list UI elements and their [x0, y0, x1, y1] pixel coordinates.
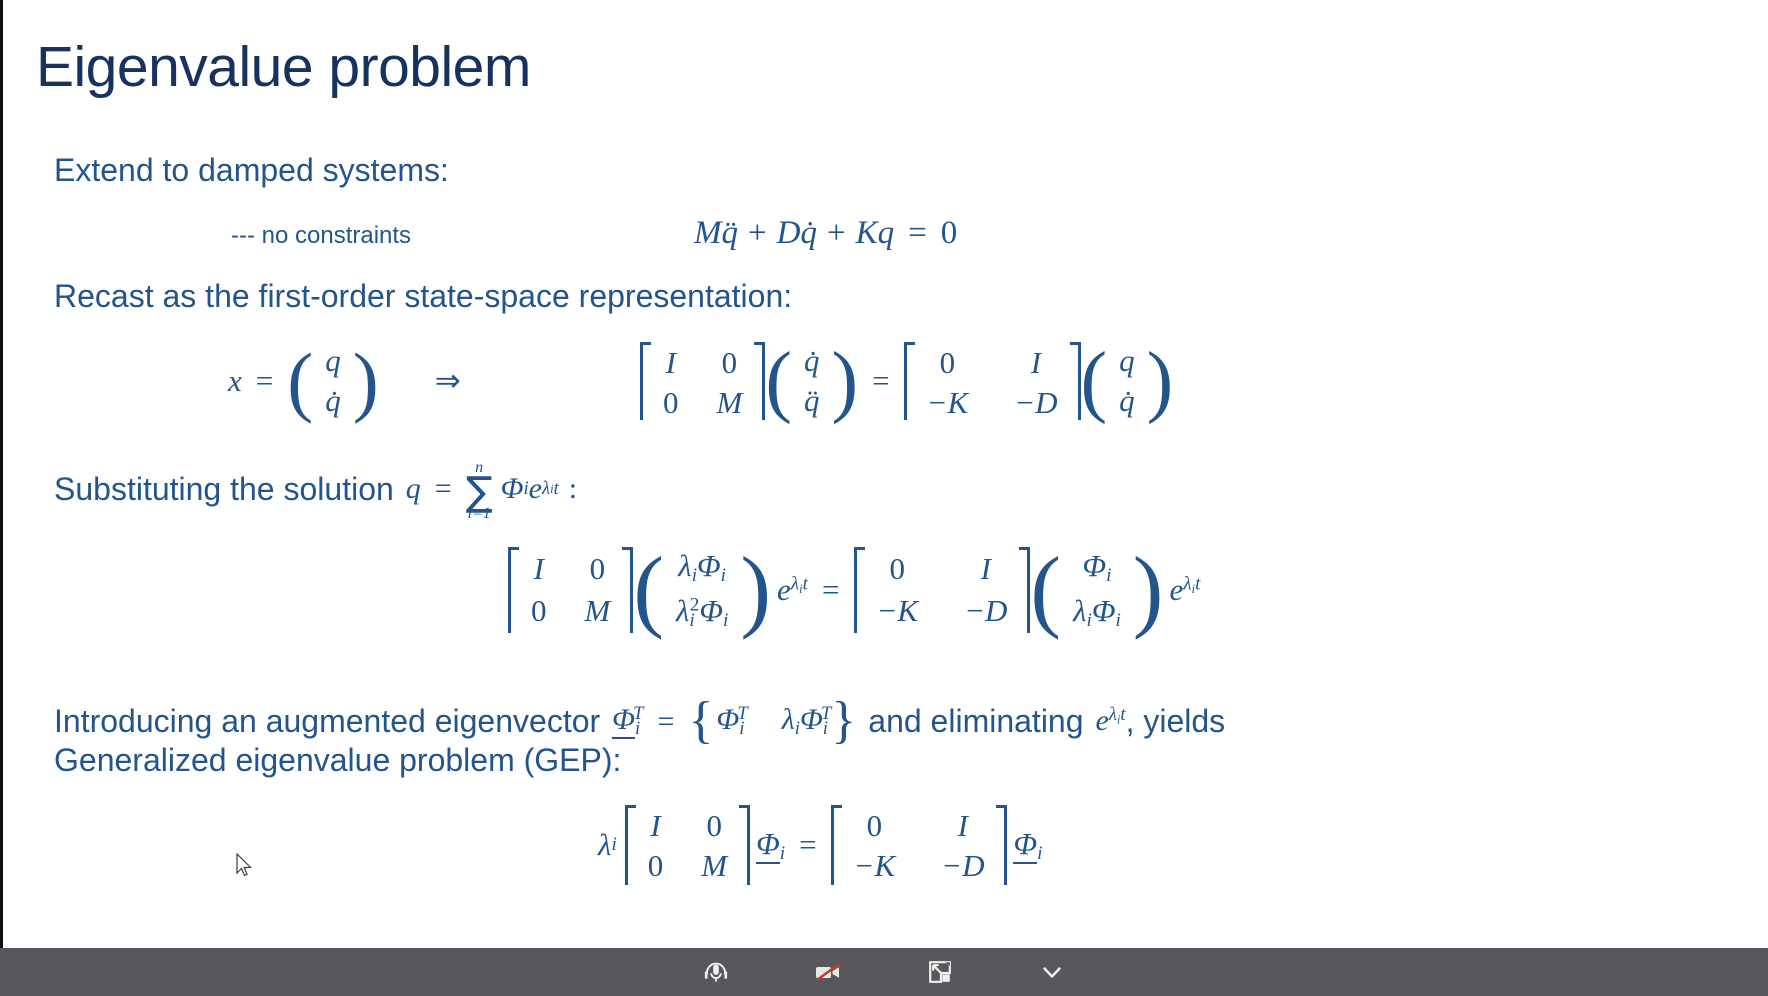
line-introducing-augmented-eigenvector: Introducing an augmented eigenvector ΦiT…: [54, 698, 1225, 745]
introducing-suffix: , yields: [1126, 703, 1226, 740]
phi: Φ: [716, 703, 739, 736]
eom-plus-1: +: [738, 215, 777, 252]
bracket-left: [508, 547, 519, 633]
gep-l-11: M: [699, 847, 729, 885]
bracket-left: [904, 342, 915, 420]
state-vector-column: q q̇: [313, 340, 353, 422]
augmented-phi-transpose: ΦiT: [600, 703, 643, 740]
equation-solution-ansatz: q = n ∑ i=1 Φieλit :: [394, 458, 577, 520]
sum-lower-limit: i=1: [468, 506, 491, 522]
sub-equals: =: [808, 572, 853, 608]
sub-left-vector: λiΦi λi2Φi: [664, 545, 740, 635]
gep-right-matrix: 0 I −K −D: [842, 805, 997, 885]
lambda: λ: [1109, 704, 1117, 725]
brace-open: {: [688, 698, 713, 745]
introducing-prefix: Introducing an augmented eigenvector: [54, 703, 600, 740]
camera-off-icon: [813, 959, 843, 985]
eom-q: q: [878, 215, 895, 252]
gep-left-phi: Φi: [750, 826, 785, 865]
phi-sub: i: [1037, 842, 1042, 863]
screen-share-button[interactable]: [917, 952, 963, 992]
screen-share-icon: [927, 959, 953, 985]
e: e: [1096, 705, 1109, 738]
introducing-mid-text: and eliminating: [856, 703, 1083, 740]
sub-right-paren-close: ): [1133, 548, 1164, 631]
camera-off-button[interactable]: [805, 952, 851, 992]
headset-mic-button[interactable]: [693, 952, 739, 992]
sub-right-paren-open: (: [1030, 548, 1061, 631]
line-generalized-eigenvalue-problem: Generalized eigenvalue problem (GEP):: [54, 742, 621, 779]
phi-underlined: Φ: [612, 703, 635, 739]
sub-l-01: 0: [588, 550, 608, 588]
gep-r-11: −D: [939, 847, 986, 885]
state-vector-x: x: [228, 363, 242, 399]
gep-l-00: I: [648, 807, 662, 845]
headset-mic-icon: [703, 959, 729, 985]
paren-close: ): [353, 346, 379, 416]
ss-right-paren-close: ): [1147, 345, 1174, 417]
gep-right-bracket: 0 I −K −D: [831, 805, 1008, 885]
ss-rv-top: q: [1117, 342, 1137, 380]
state-vector-top: q: [323, 342, 343, 380]
phi-sup: T: [633, 703, 643, 724]
ss-l-11: M: [715, 384, 745, 422]
bracket-right: [739, 805, 750, 885]
phi-sub: i: [723, 610, 728, 631]
gep-r-00: 0: [865, 807, 885, 845]
ss-left-paren-close: ): [831, 345, 858, 417]
sub-l-11: M: [583, 592, 613, 630]
bracket-right: [996, 805, 1007, 885]
slide-left-edge: [0, 0, 3, 948]
sub-r-11: −D: [962, 592, 1009, 630]
chevron-down-icon: [1039, 959, 1065, 985]
augmented-equals: =: [644, 705, 689, 739]
eom-M: M: [694, 215, 722, 252]
sub-right-bracket: 0 I −K −D: [854, 547, 1031, 633]
sub-left-paren-close: ): [740, 548, 771, 631]
eliminating-exponential: eλit: [1084, 704, 1126, 738]
ss-r-11: −D: [1012, 384, 1059, 422]
bracket-left: [625, 805, 636, 885]
bracket-right: [1019, 547, 1030, 633]
bracket-left: [640, 342, 651, 420]
ss-right-matrix: 0 I −K −D: [915, 342, 1070, 420]
ansatz-q: q: [406, 472, 421, 506]
eom-qdot: q̇: [800, 215, 817, 252]
lambda: λ: [1073, 593, 1086, 628]
sub-l-00: I: [532, 550, 546, 588]
eom-D: D: [777, 215, 801, 252]
sub-exp-left: eλit: [771, 572, 808, 608]
sub-r-00: 0: [888, 550, 908, 588]
meeting-toolbar[interactable]: [0, 948, 1768, 996]
sub-left-paren-open: (: [633, 548, 664, 631]
lambda: λ: [782, 703, 795, 736]
ansatz-summation: n ∑ i=1: [466, 460, 493, 522]
ss-l-01: 0: [720, 344, 740, 382]
sub-l-10: 0: [529, 592, 549, 630]
equation-equation-of-motion: Mq̈ + Dq̇ + Kq = 0: [694, 215, 957, 252]
eom-zero: 0: [941, 215, 958, 252]
ss-left-paren-open: (: [765, 345, 792, 417]
ansatz-colon: :: [559, 472, 577, 506]
sub-exp-right: eλit: [1163, 572, 1200, 608]
bracket-right: [754, 342, 765, 420]
gep-r-01: I: [956, 807, 970, 845]
gep-l-10: 0: [646, 847, 666, 885]
ss-right-vector: q q̇: [1107, 340, 1147, 422]
ss-l-00: I: [664, 344, 678, 382]
ss-left-matrix: I 0 0 M: [651, 342, 754, 420]
eom-equals: =: [894, 215, 941, 252]
phi-sup: T: [821, 703, 831, 724]
ss-left-bracket: I 0 0 M: [640, 342, 765, 420]
state-vector-bottom: q̇: [323, 382, 343, 420]
gep-r-10: −K: [852, 847, 898, 885]
bracket-right: [622, 547, 633, 633]
phi-underlined: Φ: [756, 826, 780, 864]
ansatz-phi: Φ: [493, 472, 524, 506]
ss-l-10: 0: [661, 384, 681, 422]
ss-lv-top: q̇: [802, 342, 822, 380]
augmented-term-1: ΦiT: [713, 703, 747, 740]
sub-r-01: I: [979, 550, 993, 588]
bracket-right: [1070, 342, 1081, 420]
e: e: [777, 572, 791, 607]
phi: Φ: [1082, 548, 1106, 583]
equation-substituted-matrix: I 0 0 M ( λiΦi λi2Φi ) eλit = 0 I −K: [508, 545, 1201, 641]
phi: Φ: [800, 703, 823, 736]
phi-sub: i: [1106, 565, 1111, 586]
ss-r-00: 0: [938, 344, 958, 382]
phi-sup: T: [737, 703, 747, 724]
brace-close: }: [831, 698, 856, 745]
ss-r-01: I: [1029, 344, 1043, 382]
presentation-slide[interactable]: Eigenvalue problem Extend to damped syst…: [0, 0, 1768, 948]
sub-left-bracket: I 0 0 M: [508, 547, 633, 633]
ss-lv-bottom: q̈: [802, 382, 822, 420]
sub-right-vector: Φi λiΦi: [1061, 545, 1133, 635]
phi-sub: i: [721, 565, 726, 586]
phi: Φ: [697, 548, 721, 583]
more-options-button[interactable]: [1029, 952, 1075, 992]
ss-r-10: −K: [925, 384, 971, 422]
phi-underlined: Φ: [1013, 826, 1037, 864]
line-recast-state-space: Recast as the first-order state-space re…: [54, 278, 792, 315]
eom-plus-2: +: [817, 215, 856, 252]
e: e: [1169, 572, 1183, 607]
lambda: λ: [678, 548, 691, 583]
equation-state-vector-definition: x = ( q q̇ ) ⇒: [228, 340, 461, 422]
state-vector-implies: ⇒: [379, 363, 461, 399]
sub-rv-bottom: λiΦi: [1071, 592, 1123, 633]
note-no-constraints: --- no constraints: [231, 222, 411, 250]
eom-K: K: [856, 215, 878, 252]
lambda: λ: [791, 573, 799, 594]
gep-left-bracket: I 0 0 M: [625, 805, 750, 885]
phi: Φ: [1092, 593, 1116, 628]
ss-right-paren-open: (: [1081, 345, 1108, 417]
augmented-term-2: λiΦiT: [748, 703, 832, 740]
paren-open: (: [287, 346, 313, 416]
gep-right-phi: Φi: [1007, 826, 1042, 865]
ansatz-e: e: [529, 472, 542, 506]
lambda: λ: [1183, 573, 1191, 594]
state-vector-equals: =: [242, 363, 287, 399]
equation-state-space-matrix: I 0 0 M ( q̇ q̈ ) = 0 I −K −D: [640, 340, 1173, 428]
ss-left-vector: q̇ q̈: [792, 340, 832, 422]
ss-equals: =: [858, 363, 903, 399]
sub-lv-bottom: λi2Φi: [674, 592, 730, 633]
equation-gep: λi I 0 0 M Φi = 0 I −K −D: [598, 805, 1042, 885]
augmented-brace-set: { ΦiT λiΦiT }: [688, 698, 856, 745]
phi-sub: i: [1115, 610, 1120, 631]
t: t: [1195, 573, 1200, 594]
lambda: λ: [676, 593, 689, 628]
slide-title: Eigenvalue problem: [36, 38, 531, 98]
phi: Φ: [699, 593, 723, 628]
sub-right-matrix: 0 I −K −D: [865, 547, 1020, 633]
sub-r-10: −K: [875, 592, 921, 630]
sub-lv-top: λiΦi: [676, 547, 728, 588]
ss-right-bracket: 0 I −K −D: [904, 342, 1081, 420]
gep-left-matrix: I 0 0 M: [636, 805, 739, 885]
substituting-prefix: Substituting the solution: [54, 471, 394, 508]
lambda-sup: 2: [690, 594, 700, 615]
gep-lambda: λ: [598, 827, 611, 863]
ss-rv-bottom: q̇: [1117, 382, 1137, 420]
mouse-cursor: [236, 853, 254, 879]
gep-equals: =: [785, 827, 830, 863]
sub-rv-top: Φi: [1080, 547, 1113, 588]
line-substituting-solution: Substituting the solution q = n ∑ i=1 Φi…: [54, 458, 577, 520]
gep-lambda-sub: i: [611, 834, 624, 856]
sub-left-matrix: I 0 0 M: [519, 547, 622, 633]
bracket-left: [831, 805, 842, 885]
ansatz-lambda: λ: [542, 478, 550, 500]
eom-qddot: q̈: [722, 215, 739, 252]
gep-l-01: 0: [704, 807, 724, 845]
bracket-left: [854, 547, 865, 633]
line-extend-to-damped-systems: Extend to damped systems:: [54, 152, 449, 189]
equals-sign: =: [644, 705, 689, 738]
ansatz-equals: =: [421, 472, 466, 506]
